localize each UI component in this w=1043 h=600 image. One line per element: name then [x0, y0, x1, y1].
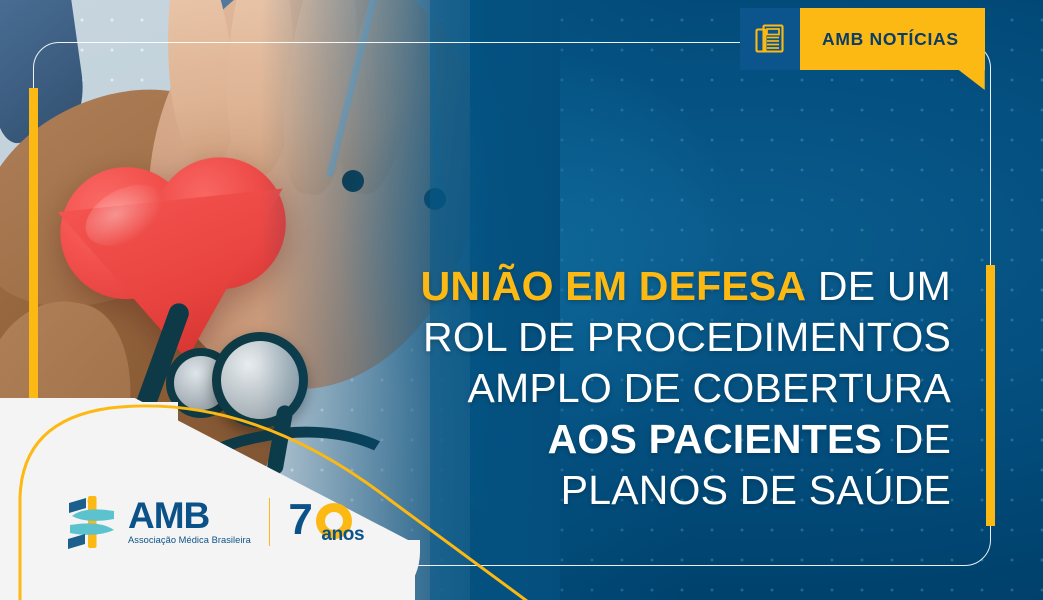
amb-acronym: AMB	[128, 499, 251, 533]
amb-noticias-badge[interactable]: AMB NOTÍCIAS	[740, 8, 985, 70]
headline-line-5: PLANOS DE SAÚDE	[391, 470, 951, 511]
headline-line-2: ROL DE PROCEDIMENTOS	[391, 317, 951, 358]
amb-noticias-banner: UNIÃO EM DEFESA DE UM ROL DE PROCEDIMENT…	[0, 0, 1043, 600]
headline-line-1: UNIÃO EM DEFESA DE UM	[391, 266, 951, 307]
headline-emphasis-aos-pacientes: AOS PACIENTES	[548, 416, 882, 462]
amb-full-name: Associação Médica Brasileira	[128, 535, 251, 545]
anniversary-badge: 7 anos	[288, 494, 372, 550]
headline: UNIÃO EM DEFESA DE UM ROL DE PROCEDIMENT…	[391, 266, 951, 511]
headline-line-3: AMPLO DE COBERTURA	[391, 368, 951, 409]
amb-caduceus-emblem-icon	[66, 494, 118, 550]
logo-divider	[269, 498, 271, 546]
headline-line-1-rest: DE UM	[806, 263, 951, 309]
amb-logo-text: AMB Associação Médica Brasileira	[128, 499, 251, 545]
anniversary-word: anos	[321, 524, 364, 546]
headline-emphasis-uniao-em-defesa: UNIÃO EM DEFESA	[421, 263, 807, 309]
badge-label-container: AMB NOTÍCIAS	[800, 8, 985, 70]
badge-icon-container	[740, 8, 800, 70]
newspaper-icon	[755, 23, 785, 55]
headline-line-4: AOS PACIENTES DE	[391, 419, 951, 460]
accent-bar-right	[986, 265, 995, 526]
badge-label-text: AMB NOTÍCIAS	[822, 29, 959, 50]
accent-bar-left	[29, 88, 38, 421]
anniversary-seven: 7	[288, 498, 310, 542]
amb-logo[interactable]: AMB Associação Médica Brasileira 7 anos	[66, 494, 372, 550]
headline-line-4-rest: DE	[882, 416, 951, 462]
